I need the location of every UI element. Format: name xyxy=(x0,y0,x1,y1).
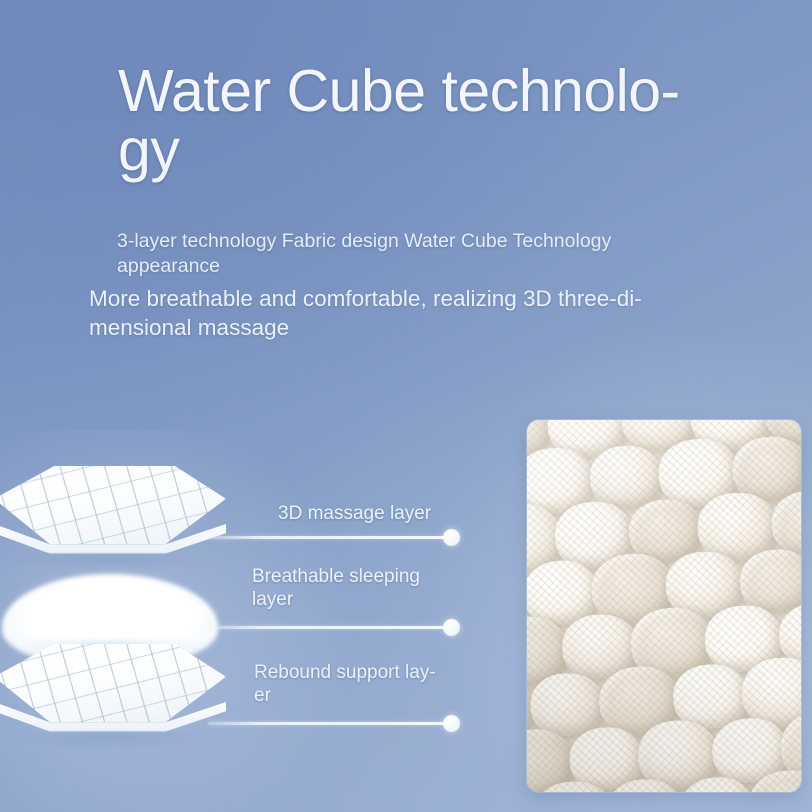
callout-leader-line-1 xyxy=(208,536,453,539)
product-infographic: Water Cube technolo- gy 3-layer technolo… xyxy=(0,0,812,812)
callout-leader-line-2 xyxy=(208,626,453,629)
callout-dot-1 xyxy=(443,529,460,546)
callout-label: 3D massage layer xyxy=(278,502,508,526)
subtitle-secondary: More breathable and comfortable, realizi… xyxy=(89,285,729,343)
callout-label: Breathable sleeping layer xyxy=(252,565,482,612)
layer-bottom-quilted-slab xyxy=(0,644,226,756)
callout-rebound-support-layer: Rebound support lay- er xyxy=(254,652,469,722)
product-photo-panel xyxy=(527,420,801,792)
callout-label: Rebound support lay- er xyxy=(254,661,484,708)
callout-3d-massage-layer: 3D massage layer xyxy=(278,468,468,540)
subtitle-primary: 3-layer technology Fabric design Water C… xyxy=(117,229,717,280)
callout-breathable-sleeping-layer: Breathable sleeping layer xyxy=(252,556,462,626)
page-title: Water Cube technolo- gy xyxy=(118,62,698,180)
callout-dot-3 xyxy=(443,715,460,732)
slab-quilt-grid xyxy=(0,466,226,544)
layer-top-quilted-slab xyxy=(0,466,226,578)
photo-lighting-overlay xyxy=(527,420,801,792)
slab-quilt-grid xyxy=(0,644,226,722)
callout-dot-2 xyxy=(443,619,460,636)
exploded-layer-stack xyxy=(0,466,244,756)
callout-leader-line-3 xyxy=(208,722,453,725)
slab-shadow xyxy=(8,730,213,750)
